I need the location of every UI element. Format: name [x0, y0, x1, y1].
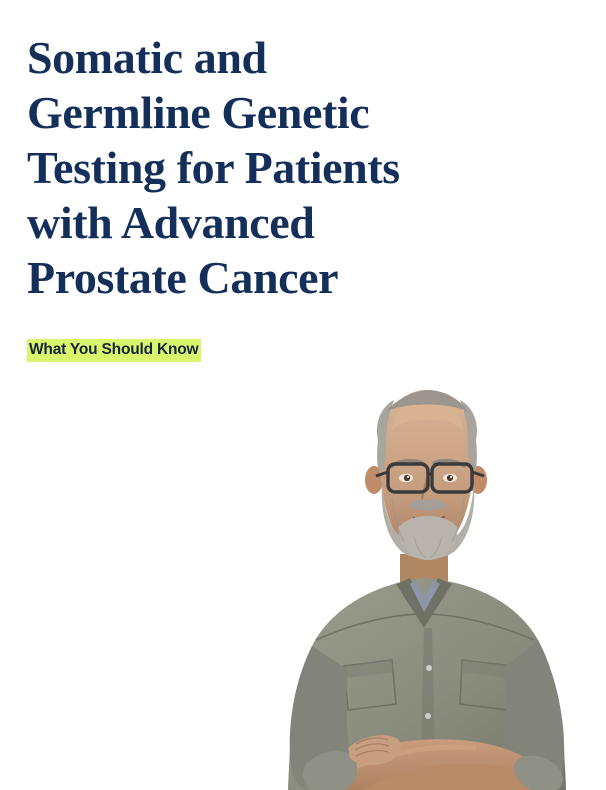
page-subtitle: What You Should Know — [27, 339, 201, 362]
subtitle-block: What You Should Know — [27, 339, 201, 362]
hero-illustration: Somatic — [0, 378, 606, 790]
cover-page: Somatic and Germline Genetic Testing for… — [0, 0, 606, 790]
man-figure — [288, 390, 566, 790]
page-title: Somatic and Germline Genetic Testing for… — [27, 30, 547, 305]
title-block: Somatic and Germline Genetic Testing for… — [27, 30, 547, 305]
